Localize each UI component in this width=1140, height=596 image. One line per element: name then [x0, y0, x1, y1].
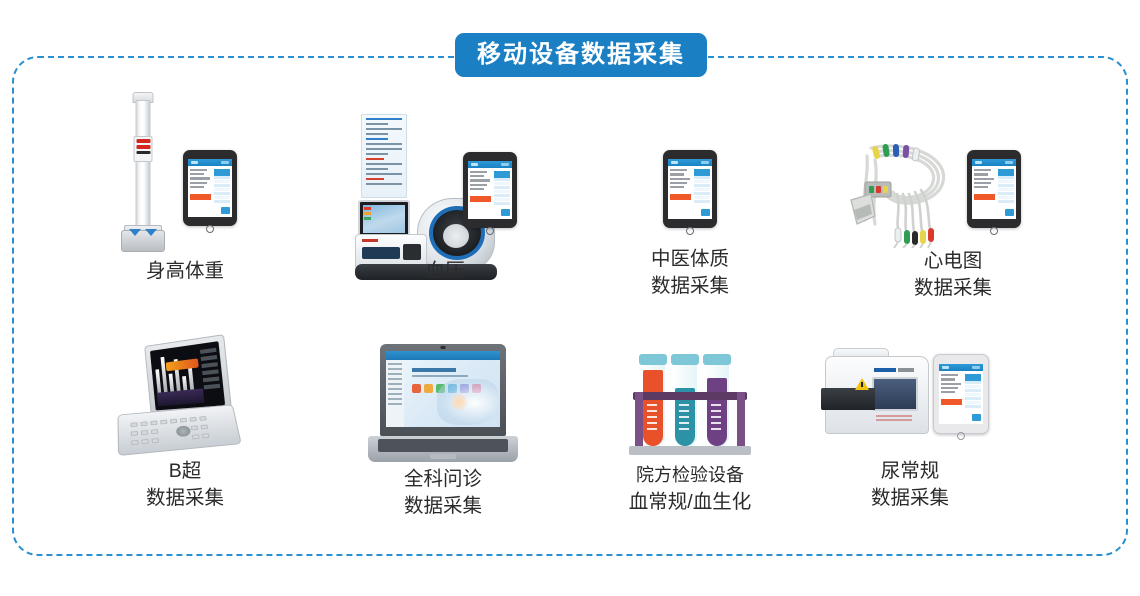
tablet-tcm-constitution[interactable]: [663, 150, 717, 228]
trackball[interactable]: [176, 425, 191, 437]
item-lab-equipment[interactable]: 院方检验设备 血常规/血生化: [615, 350, 765, 520]
monitor-display: [358, 200, 410, 238]
label-lab-line2: 血常规/血生化: [615, 489, 765, 516]
label-urine-line1: 尿常规: [810, 458, 1010, 485]
web-sidebar: [386, 360, 404, 427]
infographic-root: 移动设备数据采集: [0, 0, 1140, 596]
laptop-screen: [386, 351, 500, 427]
item-urine-routine[interactable]: 尿常规 数据采集: [815, 348, 1015, 518]
analyzer-display: [872, 377, 918, 411]
submit-button[interactable]: [501, 209, 510, 216]
item-general-consultation[interactable]: 全科问诊 数据采集: [368, 344, 518, 514]
warning-label-icon: [855, 378, 869, 390]
printed-report-slip: [361, 114, 407, 198]
submit-button[interactable]: [972, 414, 981, 421]
item-tcm-constitution[interactable]: 中医体质 数据采集: [620, 150, 760, 295]
ecg-artwork: [845, 136, 1045, 248]
home-button-icon[interactable]: [957, 432, 965, 440]
webcam-icon: [441, 346, 446, 349]
portable-ultrasound-icon: [118, 340, 258, 455]
item-blood-pressure[interactable]: 血压: [355, 114, 545, 294]
web-content: [404, 360, 500, 427]
submit-button[interactable]: [221, 207, 230, 214]
ultrasound-artwork: [110, 340, 260, 455]
home-button-icon[interactable]: [686, 227, 694, 235]
app-header-bar: [468, 161, 512, 168]
height-weight-artwork: [105, 92, 265, 252]
tablet-screen: [468, 161, 512, 219]
item-ecg[interactable]: 心电图 数据采集: [845, 136, 1045, 296]
title-badge: 移动设备数据采集: [455, 33, 707, 77]
app-header-bar: [668, 159, 712, 166]
rack-leg-right: [737, 392, 745, 446]
rack-crossbar: [633, 392, 747, 400]
laptop-lid: [380, 344, 506, 436]
ultrasound-console: [117, 404, 241, 456]
urine-analyzer-icon: [825, 348, 935, 448]
label-height-weight: 身高体重: [105, 258, 265, 285]
rack-base: [629, 446, 751, 455]
tablet-screen: [188, 159, 232, 217]
label-ultrasound-line1: B超: [110, 458, 260, 485]
tablet-ecg[interactable]: [967, 150, 1021, 228]
app-header-bar: [188, 159, 232, 166]
label-tcm-line2: 数据采集: [620, 273, 760, 300]
trackpad[interactable]: [430, 454, 456, 459]
alert-bar: [190, 194, 211, 200]
test-tube-2: [673, 354, 697, 448]
item-height-weight[interactable]: 身高体重: [105, 92, 265, 292]
label-tcm-line1: 中医体质: [620, 246, 760, 273]
submit-button[interactable]: [701, 209, 710, 216]
tablet-screen: [972, 159, 1016, 219]
test-tube-1: [641, 354, 665, 448]
web-header-bar: [386, 351, 500, 360]
label-ultrasound-line2: 数据采集: [110, 485, 260, 512]
lab-artwork: [615, 350, 765, 460]
keyboard[interactable]: [378, 439, 508, 452]
alert-bar: [941, 399, 962, 405]
label-consultation-line2: 数据采集: [368, 493, 518, 520]
height-weight-scale-icon: [113, 92, 173, 252]
submit-button[interactable]: [1005, 209, 1014, 216]
laptop-icon: [368, 344, 518, 464]
tablet-urine-routine[interactable]: [933, 354, 989, 434]
rack-leg-left: [635, 392, 643, 446]
tablet-blood-pressure[interactable]: [463, 152, 517, 228]
ultrasound-display: [144, 334, 232, 417]
label-urine-line2: 数据采集: [810, 485, 1010, 512]
label-ecg-line1: 心电图: [853, 248, 1053, 275]
app-header-bar: [972, 159, 1016, 166]
label-consultation-line1: 全科问诊: [368, 466, 518, 493]
label-blood-pressure: 血压: [350, 258, 540, 285]
alert-bar: [974, 194, 995, 200]
alert-bar: [670, 194, 691, 200]
home-button-icon[interactable]: [990, 227, 998, 235]
test-tube-3: [705, 354, 729, 448]
label-lab-line1: 院方检验设备: [615, 462, 765, 489]
tablet-height-weight[interactable]: [183, 150, 237, 226]
tcm-artwork: [620, 150, 760, 236]
tablet-screen: [668, 159, 712, 219]
home-button-icon[interactable]: [206, 225, 214, 233]
ecg-lead-cable-icon: [845, 136, 965, 248]
app-header-bar: [939, 364, 983, 371]
tablet-screen: [939, 364, 983, 424]
sample-tray-slot: [821, 388, 875, 410]
hand-illustration: [437, 379, 498, 425]
laptop-artwork: [368, 344, 518, 464]
brand-logo: [874, 368, 916, 372]
title-badge-label: 移动设备数据采集: [477, 43, 685, 67]
item-ultrasound[interactable]: B超 数据采集: [110, 340, 260, 510]
urine-analyzer-artwork: [815, 348, 1015, 458]
test-tube-rack-icon: [633, 350, 753, 460]
home-button-icon[interactable]: [486, 227, 494, 235]
laptop-base: [368, 436, 518, 462]
label-ecg-line2: 数据采集: [853, 275, 1053, 302]
alert-bar: [470, 196, 491, 202]
